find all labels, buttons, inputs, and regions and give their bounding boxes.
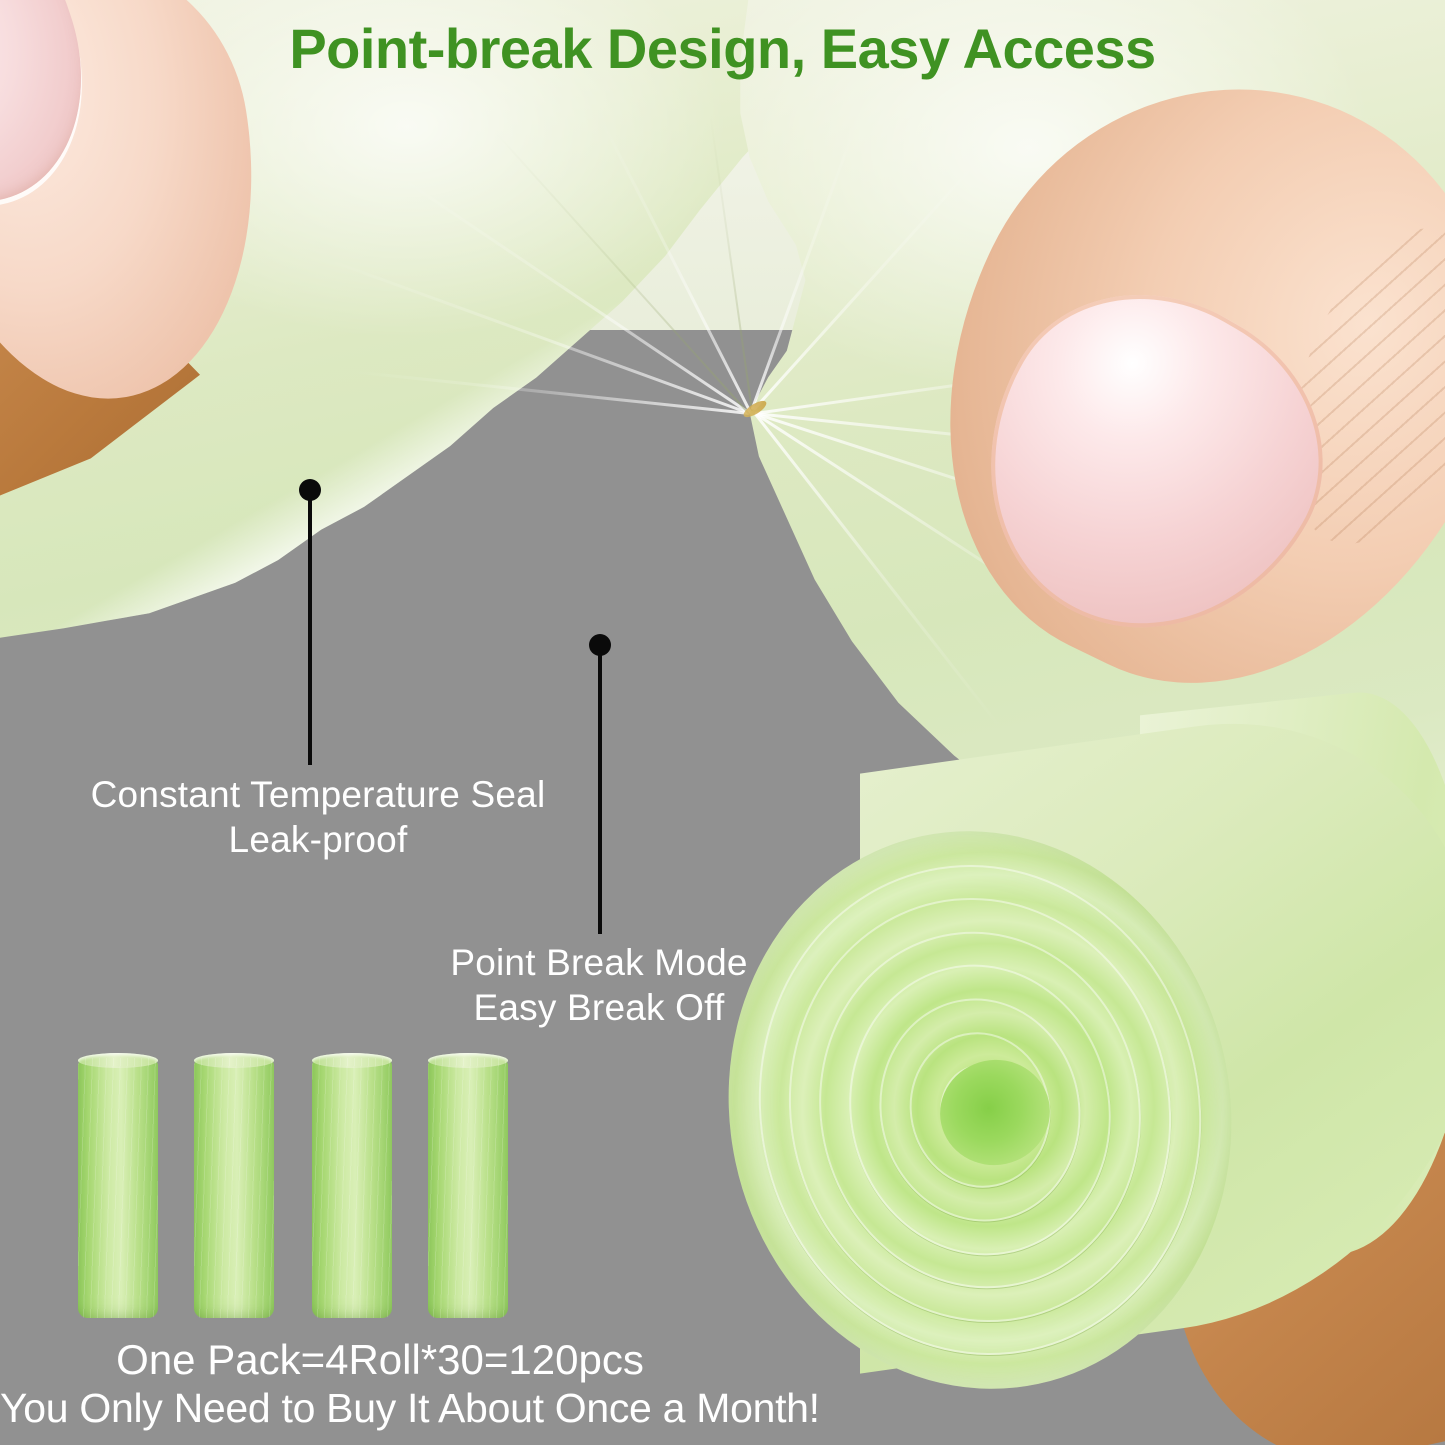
four-roll-pack xyxy=(78,1058,518,1328)
callout-leader-break xyxy=(598,654,602,934)
callout-break-line2: Easy Break Off xyxy=(440,985,758,1030)
mini-roll xyxy=(78,1058,158,1318)
footer-line2: You Only Need to Buy It About Once a Mon… xyxy=(0,1385,760,1433)
callout-seal-line1: Constant Temperature Seal xyxy=(88,772,548,817)
callout-dot-break xyxy=(589,634,611,656)
large-bag-roll xyxy=(740,790,1445,1445)
callout-text-break: Point Break Mode Easy Break Off xyxy=(440,940,758,1030)
callout-text-seal: Constant Temperature Seal Leak-proof xyxy=(88,772,548,862)
mini-roll xyxy=(428,1058,508,1318)
mini-roll xyxy=(312,1058,392,1318)
footer-line1: One Pack=4Roll*30=120pcs xyxy=(0,1336,760,1385)
callout-dot-seal xyxy=(299,479,321,501)
callout-break-line1: Point Break Mode xyxy=(440,940,758,985)
page-title: Point-break Design, Easy Access xyxy=(0,16,1445,81)
callout-seal-line2: Leak-proof xyxy=(88,817,548,862)
product-feature-image: Constant Temperature Seal Leak-proof Poi… xyxy=(0,0,1445,1445)
callout-leader-seal xyxy=(308,499,312,765)
footer-caption: One Pack=4Roll*30=120pcs You Only Need t… xyxy=(0,1336,760,1432)
mini-roll xyxy=(194,1058,274,1318)
